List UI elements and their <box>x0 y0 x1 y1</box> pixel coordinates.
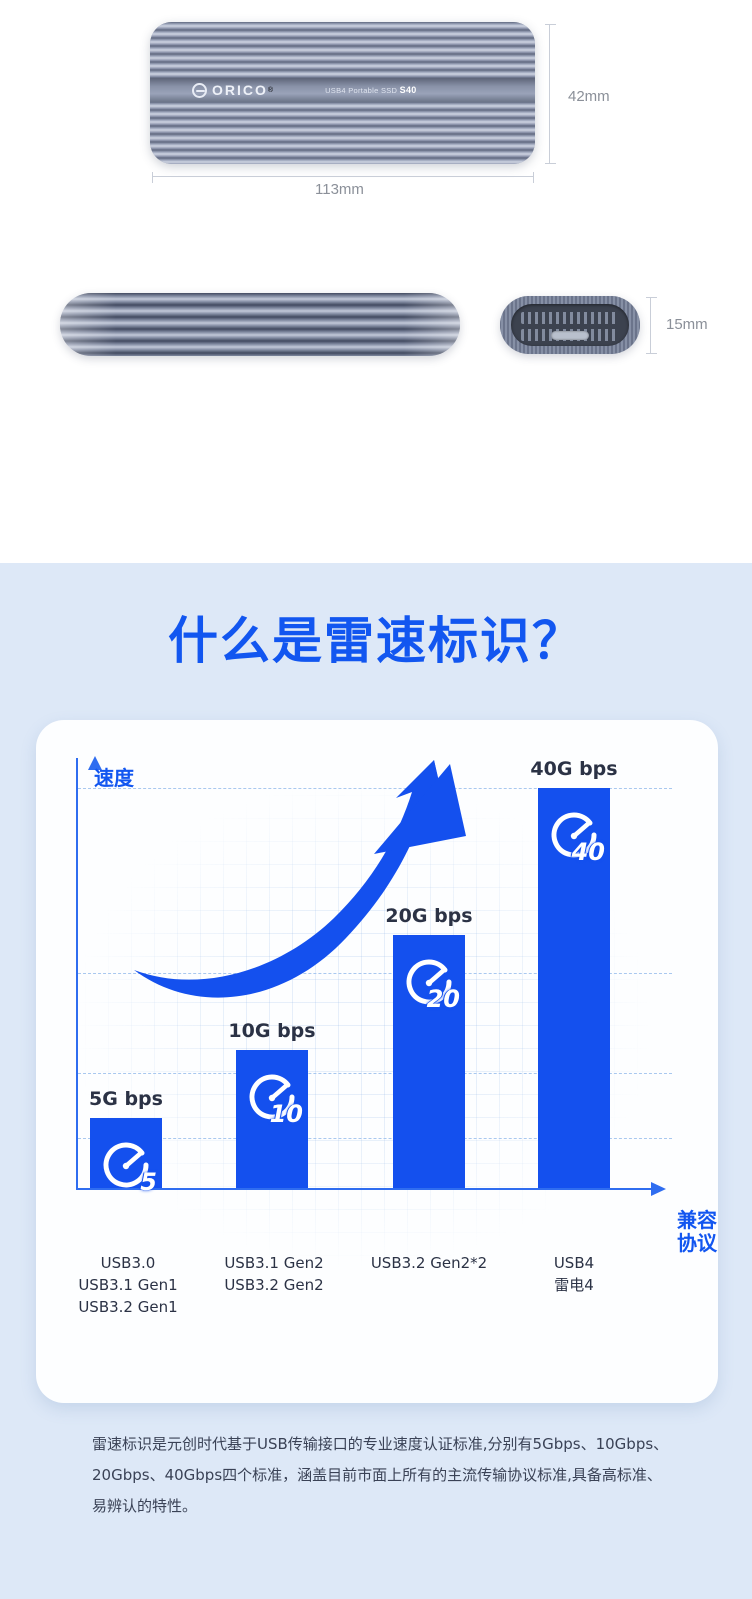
bar-value-label: 5G bps <box>89 1088 163 1110</box>
category-line: USB3.1 Gen1 <box>68 1275 188 1297</box>
height-dimension-label: 42mm <box>568 88 610 105</box>
usb-c-port-icon <box>551 331 589 340</box>
heatsink-fins-bottom <box>150 102 535 164</box>
model-name: S40 <box>400 85 417 95</box>
speed-gauge-icon: 5 <box>98 1136 154 1192</box>
vent-grille-upper <box>521 312 619 324</box>
category-line: USB3.2 Gen2*2 <box>354 1253 504 1275</box>
speed-chart-card: 速度 兼容 协议 5G bps 5 10G bps <box>36 720 718 1403</box>
orico-logo-icon <box>192 83 207 98</box>
speed-gauge-icon: 10 <box>244 1068 300 1124</box>
heatsink-fins-top <box>150 22 535 78</box>
speed-standard-section: 什么是雷速标识？ 速度 兼容 协议 <box>0 563 752 1599</box>
brand-logo: ORICO® <box>192 83 273 98</box>
category-line: USB3.2 Gen1 <box>68 1297 188 1319</box>
speed-gauge-number: 40 <box>572 838 605 866</box>
speed-gauge-icon: 20 <box>401 953 457 1009</box>
bar-usb32gen2x2: 20G bps 20 <box>393 935 465 1188</box>
height-dimension-line <box>549 24 561 164</box>
bar-chart: 速度 兼容 协议 5G bps 5 10G bps <box>58 748 678 1218</box>
section-title: 什么是雷速标识？ <box>0 601 752 673</box>
category-label-usb31gen2: USB3.1 Gen2 USB3.2 Gen2 <box>212 1253 336 1297</box>
product-top-view: ORICO® USB4 Portable SSD S40 <box>150 22 535 164</box>
speed-gauge-icon: 40 <box>546 806 602 862</box>
x-axis-label-line2: 协议 <box>672 1232 722 1254</box>
product-label-band: ORICO® USB4 Portable SSD S40 <box>150 78 535 102</box>
x-axis-arrow-icon <box>651 1182 666 1196</box>
x-axis <box>76 1188 652 1190</box>
width-dimension-label: 113mm <box>315 181 364 198</box>
category-line: USB3.0 <box>68 1253 188 1275</box>
bar-value-label: 10G bps <box>228 1020 315 1042</box>
product-dimensions-section: ORICO® USB4 Portable SSD S40 42mm 113mm … <box>0 0 752 563</box>
x-axis-label: 兼容 协议 <box>672 1209 722 1254</box>
product-model-label: USB4 Portable SSD S40 <box>325 85 417 95</box>
x-axis-label-line1: 兼容 <box>672 1209 722 1231</box>
depth-dimension-line <box>650 297 662 354</box>
bar-usb30: 5G bps 5 <box>90 1118 162 1188</box>
category-label-usb30: USB3.0 USB3.1 Gen1 USB3.2 Gen1 <box>68 1253 188 1318</box>
category-line: USB3.1 Gen2 <box>212 1253 336 1275</box>
product-end-view <box>500 296 640 354</box>
bar-usb4: 40G bps 40 <box>538 788 610 1188</box>
product-side-view <box>60 293 460 356</box>
speed-gauge-number: 20 <box>427 985 460 1013</box>
registered-mark-icon: ® <box>268 87 273 94</box>
speed-gauge-number: 10 <box>270 1100 303 1128</box>
speed-gauge-number: 5 <box>140 1168 157 1196</box>
category-line: 雷电4 <box>528 1275 620 1297</box>
category-line: USB3.2 Gen2 <box>212 1275 336 1297</box>
section-caption: 雷速标识是元创时代基于USB传输接口的专业速度认证标准,分别有5Gbps、10G… <box>92 1429 672 1521</box>
category-label-usb4: USB4 雷电4 <box>528 1253 620 1297</box>
bar-usb31gen2: 10G bps 10 <box>236 1050 308 1188</box>
bar-value-label: 40G bps <box>530 758 617 780</box>
y-axis <box>76 758 78 1190</box>
brand-name: ORICO <box>212 83 268 97</box>
y-axis-label: 速度 <box>94 762 134 791</box>
model-prefix: USB4 Portable SSD <box>325 86 400 95</box>
category-line: USB4 <box>528 1253 620 1275</box>
end-panel <box>511 304 629 346</box>
category-label-usb32gen2x2: USB3.2 Gen2*2 <box>354 1253 504 1275</box>
depth-dimension-label: 15mm <box>666 316 708 333</box>
bar-value-label: 20G bps <box>385 905 472 927</box>
